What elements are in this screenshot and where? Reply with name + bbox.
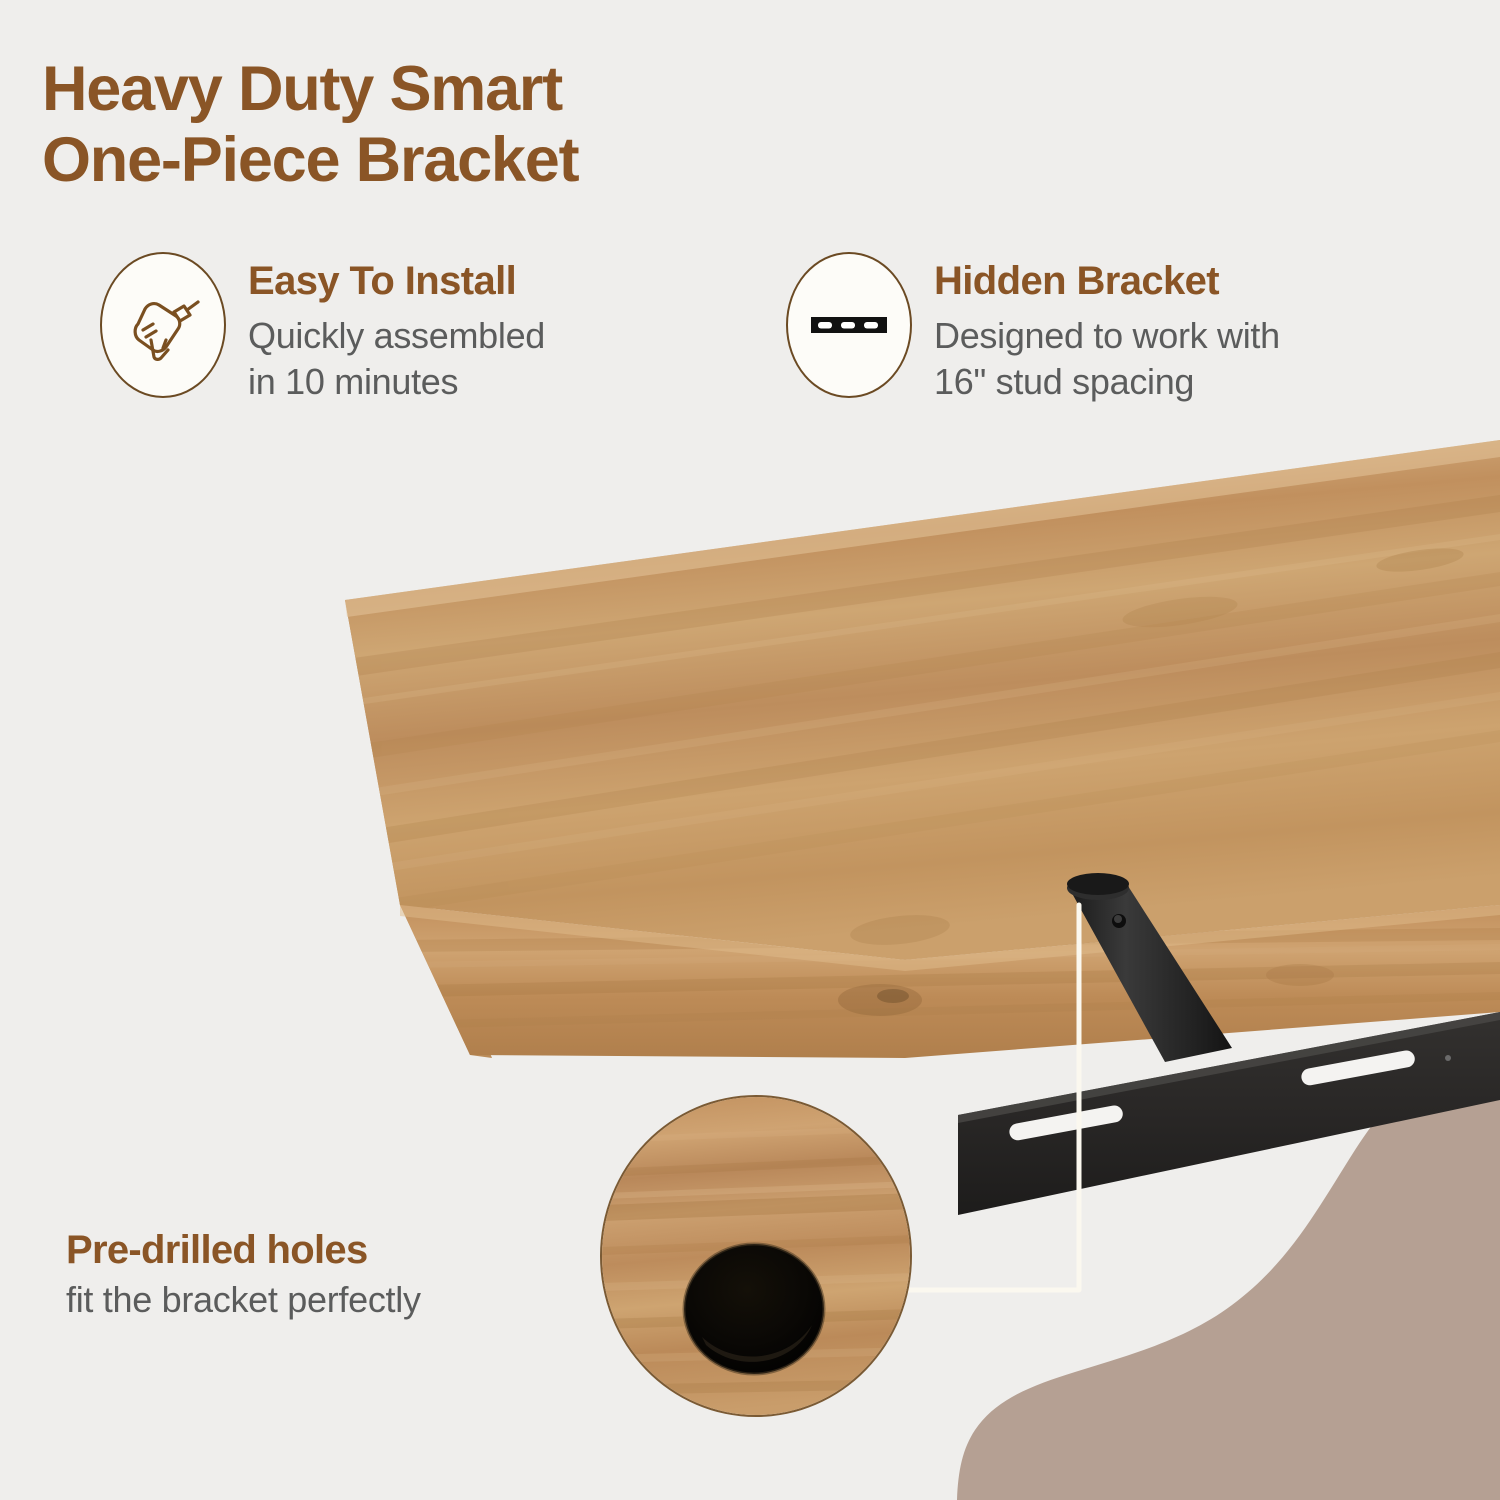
callout-description: fit the bracket perfectly <box>66 1278 586 1321</box>
callout-title: Pre-drilled holes <box>66 1228 586 1272</box>
feature-easy-to-install: Easy To Install Quickly assembled in 10 … <box>100 252 545 405</box>
page-title: Heavy Duty Smart One-Piece Bracket <box>42 54 942 196</box>
drill-icon <box>126 288 200 362</box>
feature-description: Designed to work with 16" stud spacing <box>934 313 1280 405</box>
feature-icon-badge <box>100 252 226 398</box>
shelf-top-surface <box>340 440 1500 960</box>
feature-description: Quickly assembled in 10 minutes <box>248 313 545 405</box>
product-infographic: Heavy Duty Smart One-Piece Bracket <box>0 0 1500 1500</box>
feature-icon-badge <box>786 252 912 398</box>
feature-title: Hidden Bracket <box>934 260 1280 303</box>
feature-hidden-bracket: Hidden Bracket Designed to work with 16"… <box>786 252 1280 405</box>
bracket-bar-icon <box>807 283 891 367</box>
zoom-bubble-predrilled-hole <box>600 1095 912 1417</box>
callout-predrilled-holes: Pre-drilled holes fit the bracket perfec… <box>66 1228 586 1321</box>
feature-title: Easy To Install <box>248 260 545 303</box>
